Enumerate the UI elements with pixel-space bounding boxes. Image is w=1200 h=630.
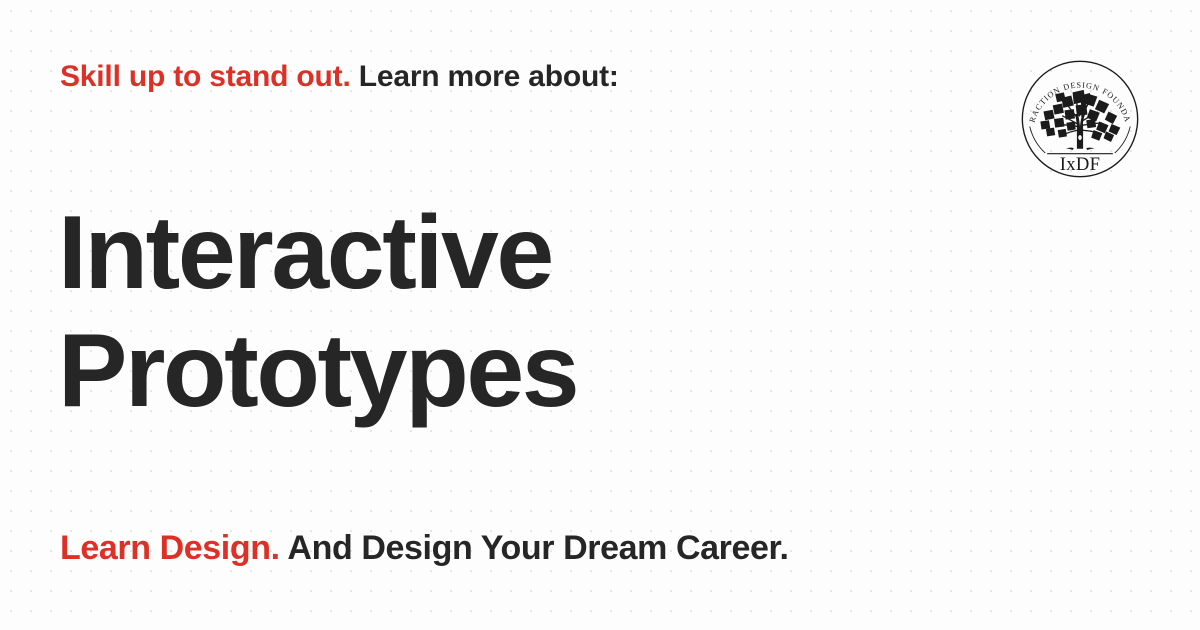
eyebrow-accent-text: Skill up to stand out.: [60, 60, 351, 93]
headline-line-2: Prototypes: [58, 312, 958, 430]
logo-flourish-left-icon: [1030, 126, 1046, 153]
tagline-rest-text: And Design Your Dream Career.: [280, 529, 789, 567]
ixdf-logo-svg: INTERACTION DESIGN FOUNDATION: [1018, 52, 1142, 186]
logo-arc-textpath: INTERACTION DESIGN FOUNDATION: [1018, 52, 1132, 124]
page-title: Interactive Prototypes: [58, 194, 958, 430]
logo-arc-text: INTERACTION DESIGN FOUNDATION: [1018, 52, 1132, 124]
ixdf-logo: INTERACTION DESIGN FOUNDATION: [1018, 52, 1142, 186]
tagline: Learn Design. And Design Your Dream Care…: [60, 526, 789, 570]
tagline-accent-text: Learn Design.: [60, 529, 280, 567]
headline-line-1: Interactive: [58, 194, 958, 312]
promo-card: Skill up to stand out. Learn more about:…: [0, 0, 1200, 630]
eyebrow-rest-text: Learn more about:: [351, 60, 619, 93]
logo-wordmark: IxDF: [1060, 154, 1101, 175]
eyebrow-line: Skill up to stand out. Learn more about:: [60, 58, 619, 96]
